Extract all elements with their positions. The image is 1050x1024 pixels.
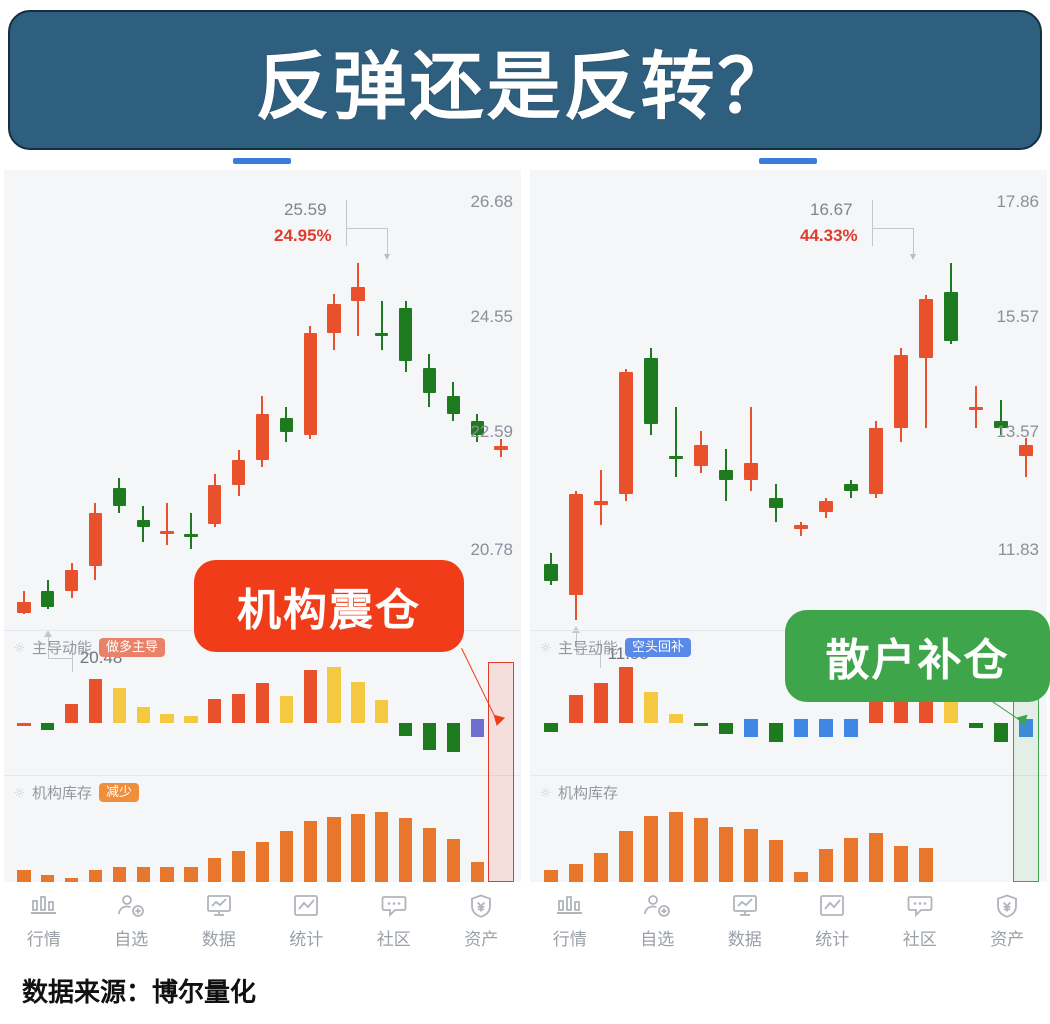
candle-body [423, 368, 436, 393]
momentum-badge: 空头回补 [625, 638, 691, 657]
momentum-bar [41, 723, 54, 730]
annotation-high-price: 16.67 [810, 200, 853, 220]
candlestick [769, 170, 783, 630]
chart-panels: 26.6824.5522.5920.7825.5924.95%20.48主导动能… [0, 152, 1050, 960]
momentum-bar [447, 723, 460, 752]
nav-item-label: 统计 [815, 925, 849, 950]
candle-body [694, 445, 708, 466]
candle-body [89, 513, 102, 566]
candle-body [769, 498, 783, 508]
candlestick [65, 170, 78, 630]
nav-item-自选[interactable]: 自选 [620, 893, 694, 950]
candle-body [232, 460, 245, 485]
momentum-bar [160, 714, 173, 723]
nav-item-label: 数据 [728, 925, 762, 950]
inventory-bar [423, 828, 436, 883]
inventory-bar [208, 858, 221, 883]
inventory-header: 机构库存 [540, 782, 618, 803]
callout-bubble: 机构震仓 [194, 560, 464, 652]
candle-body [594, 501, 608, 504]
momentum-bar [280, 696, 293, 723]
candle-body [569, 494, 583, 595]
nav-item-资产[interactable]: 资产 [970, 893, 1044, 950]
momentum-header: 主导动能空头回补 [540, 637, 691, 658]
annotation-leader [913, 228, 914, 256]
candlestick [471, 170, 484, 630]
inventory-bar [256, 842, 269, 883]
candlestick-chart[interactable]: 17.8615.5713.5711.8316.6744.33%11.55 [530, 170, 1047, 630]
momentum-badge: 做多主导 [99, 638, 165, 657]
nav-item-label: 行情 [27, 925, 61, 950]
title-banner: 反弹还是反转？ [8, 10, 1042, 150]
inventory-bar [160, 867, 173, 883]
price-axis-label: 13.57 [996, 422, 1039, 442]
candle-body [327, 304, 340, 332]
momentum-bar [769, 723, 783, 742]
candle-body [447, 396, 460, 414]
price-axis-label: 26.68 [470, 192, 513, 212]
momentum-bar [794, 719, 808, 737]
bottom-nav: 行情自选数据统计社区资产 [0, 882, 525, 960]
bar-chart-icon [555, 893, 585, 919]
momentum-bar [17, 723, 30, 726]
candle-body [969, 407, 983, 410]
inventory-bar [184, 867, 197, 883]
inventory-bar [669, 812, 683, 883]
annotation-change-percent: 44.33% [800, 226, 858, 246]
candle-body [794, 525, 808, 528]
inventory-bars [4, 806, 521, 883]
nav-item-自选[interactable]: 自选 [94, 893, 168, 950]
bottom-nav: 行情自选数据统计社区资产 [526, 882, 1050, 960]
momentum-bar [375, 700, 388, 723]
candle-body [869, 428, 883, 494]
candlestick [160, 170, 173, 630]
inventory-panel: 机构库存 [530, 775, 1047, 883]
price-axis-label: 17.86 [996, 192, 1039, 212]
candle-body [944, 292, 958, 341]
nav-item-统计[interactable]: 统计 [795, 893, 869, 950]
inventory-bar [744, 829, 758, 883]
candlestick [894, 170, 908, 630]
data-source-footer: 数据来源：博尔量化 [22, 972, 256, 1009]
inventory-bar [569, 864, 583, 883]
momentum-bar [137, 707, 150, 723]
candle-body [304, 333, 317, 436]
candle-body [208, 485, 221, 524]
candle-wick [675, 407, 677, 477]
momentum-header: 主导动能做多主导 [14, 637, 165, 658]
inventory-bar [137, 867, 150, 883]
candle-wick [381, 301, 383, 351]
momentum-bar [619, 667, 633, 723]
nav-item-社区[interactable]: 社区 [883, 893, 957, 950]
inventory-bars [530, 806, 1047, 883]
candle-body [41, 591, 54, 607]
inventory-bar [327, 817, 340, 883]
chart-body: 17.8615.5713.5711.8316.6744.33%11.55主导动能… [530, 170, 1047, 882]
inventory-bar [894, 846, 908, 883]
inventory-bar [113, 867, 126, 883]
nav-item-资产[interactable]: 资产 [444, 893, 518, 950]
momentum-bar [232, 694, 245, 723]
momentum-bar [399, 723, 412, 736]
candlestick [17, 170, 30, 630]
momentum-bar [594, 683, 608, 723]
candle-body [113, 488, 126, 506]
candle-wick [166, 503, 168, 545]
inventory-bar [304, 821, 317, 883]
annotation-arrow-down-icon [384, 254, 390, 260]
inventory-title: 机构库存 [558, 782, 618, 803]
person-add-icon [642, 893, 672, 919]
callout-bubble: 散户补仓 [785, 610, 1050, 702]
inventory-bar [399, 818, 412, 883]
candlestick [137, 170, 150, 630]
nav-item-统计[interactable]: 统计 [269, 893, 343, 950]
candle-body [819, 501, 833, 511]
candle-body [184, 534, 197, 537]
candle-body [744, 463, 758, 480]
momentum-bar [423, 723, 436, 750]
candle-body [375, 333, 388, 337]
candle-body [1019, 445, 1033, 455]
momentum-bar [694, 723, 708, 726]
monitor-chart-icon [204, 893, 234, 919]
momentum-bar [844, 719, 858, 737]
inventory-bar [919, 848, 933, 884]
candlestick [619, 170, 633, 630]
price-axis-label: 24.55 [470, 307, 513, 327]
monitor-chart-icon [730, 893, 760, 919]
candlestick [669, 170, 683, 630]
inventory-badge: 减少 [99, 783, 139, 802]
candlestick [594, 170, 608, 630]
nav-item-label: 自选 [114, 925, 148, 950]
candle-body [17, 602, 30, 613]
candlestick [494, 170, 507, 630]
candle-body [351, 287, 364, 301]
momentum-bar [113, 688, 126, 723]
candle-body [137, 520, 150, 527]
inventory-bar [844, 838, 858, 883]
candle-wick [190, 513, 192, 548]
annotation-arrow-down-icon [910, 254, 916, 260]
candlestick [184, 170, 197, 630]
nav-item-label: 资产 [464, 925, 498, 950]
momentum-bar [669, 714, 683, 723]
inventory-bar [719, 827, 733, 883]
momentum-bar [351, 682, 364, 723]
inventory-bar [619, 831, 633, 883]
inventory-bar [644, 816, 658, 883]
stock-panel-left: 26.6824.5522.5920.7825.5924.95%20.48主导动能… [0, 152, 526, 960]
inventory-bar [819, 849, 833, 883]
momentum-bars [4, 661, 521, 772]
momentum-bar [208, 699, 221, 723]
momentum-bar [719, 723, 733, 734]
inventory-bar [594, 853, 608, 883]
candle-body [280, 418, 293, 432]
candle-body [669, 456, 683, 459]
candle-body [494, 446, 507, 450]
momentum-title: 主导动能 [558, 637, 618, 658]
inventory-bar [280, 831, 293, 883]
chat-bubble-icon [379, 893, 409, 919]
nav-item-label: 行情 [553, 925, 587, 950]
price-axis-label: 15.57 [996, 307, 1039, 327]
candle-wick [1025, 438, 1027, 476]
candlestick [944, 170, 958, 630]
candle-body [619, 372, 633, 494]
candlestick [569, 170, 583, 630]
candle-wick [600, 470, 602, 526]
candlestick [41, 170, 54, 630]
inventory-bar [447, 839, 460, 883]
annotation-high-price: 25.59 [284, 200, 327, 220]
momentum-bar [65, 704, 78, 723]
momentum-bar [644, 692, 658, 723]
nav-item-label: 资产 [990, 925, 1024, 950]
annotation-connector [346, 228, 388, 229]
momentum-bar [744, 719, 758, 737]
chart-body: 26.6824.5522.5920.7825.5924.95%20.48主导动能… [4, 170, 521, 882]
inventory-bar [375, 812, 388, 883]
shield-yuan-icon [466, 893, 496, 919]
momentum-bar [184, 716, 197, 723]
annotation-leader [387, 228, 388, 256]
tab-indicator[interactable] [233, 158, 291, 164]
nav-item-社区[interactable]: 社区 [357, 893, 431, 950]
bar-chart-icon [29, 893, 59, 919]
nav-item-label: 统计 [289, 925, 323, 950]
nav-item-label: 自选 [640, 925, 674, 950]
inventory-title: 机构库存 [32, 782, 92, 803]
price-axis-label: 11.83 [998, 540, 1039, 560]
price-axis-label: 22.59 [470, 422, 513, 442]
inventory-panel: 机构库存减少 [4, 775, 521, 883]
momentum-bar [869, 700, 883, 723]
nav-item-label: 数据 [202, 925, 236, 950]
shield-yuan-icon [992, 893, 1022, 919]
tab-indicator[interactable] [759, 158, 817, 164]
momentum-bar [569, 695, 583, 723]
candle-body [544, 564, 558, 581]
annotation-connector [872, 228, 914, 229]
line-chart-icon [817, 893, 847, 919]
momentum-bar [89, 679, 102, 723]
momentum-bar [969, 723, 983, 728]
inventory-bar [769, 840, 783, 883]
candle-wick [800, 522, 802, 536]
nav-item-数据[interactable]: 数据 [708, 893, 782, 950]
momentum-bar [471, 719, 484, 737]
candle-body [844, 484, 858, 491]
candlestick [994, 170, 1008, 630]
nav-item-label: 社区 [903, 925, 937, 950]
momentum-bar [304, 670, 317, 723]
candle-body [644, 358, 658, 424]
inventory-bar [471, 862, 484, 883]
candle-body [256, 414, 269, 460]
chat-bubble-icon [905, 893, 935, 919]
momentum-bar [819, 719, 833, 737]
candlestick [544, 170, 558, 630]
line-chart-icon [291, 893, 321, 919]
candle-body [65, 570, 78, 591]
candlestick [644, 170, 658, 630]
nav-item-行情[interactable]: 行情 [533, 893, 607, 950]
candlestick [919, 170, 933, 630]
annotation-tick [872, 200, 873, 246]
highlight-box [488, 662, 513, 882]
candle-body [160, 531, 173, 534]
inventory-bar [232, 851, 245, 883]
inventory-header: 机构库存减少 [14, 782, 139, 803]
candlestick [89, 170, 102, 630]
inventory-bar [351, 814, 364, 883]
momentum-bar [256, 683, 269, 723]
candlestick [694, 170, 708, 630]
nav-item-行情[interactable]: 行情 [7, 893, 81, 950]
candlestick [969, 170, 983, 630]
price-axis-label: 20.78 [470, 540, 513, 560]
momentum-bar [544, 723, 558, 732]
candle-body [399, 308, 412, 361]
nav-item-label: 社区 [377, 925, 411, 950]
momentum-bar [327, 667, 340, 723]
momentum-title: 主导动能 [32, 637, 92, 658]
page-title: 反弹还是反转？ [256, 27, 795, 134]
candle-body [719, 470, 733, 480]
momentum-bar [994, 723, 1008, 742]
candlestick [719, 170, 733, 630]
candle-body [919, 299, 933, 358]
annotation-change-percent: 24.95% [274, 226, 332, 246]
inventory-bar [694, 818, 708, 883]
candlestick [113, 170, 126, 630]
stock-panel-right: 17.8615.5713.5711.8316.6744.33%11.55主导动能… [526, 152, 1050, 960]
candle-body [894, 355, 908, 428]
candlestick [1019, 170, 1033, 630]
inventory-bar [869, 833, 883, 883]
nav-item-数据[interactable]: 数据 [182, 893, 256, 950]
annotation-tick [346, 200, 347, 246]
candlestick [744, 170, 758, 630]
person-add-icon [116, 893, 146, 919]
